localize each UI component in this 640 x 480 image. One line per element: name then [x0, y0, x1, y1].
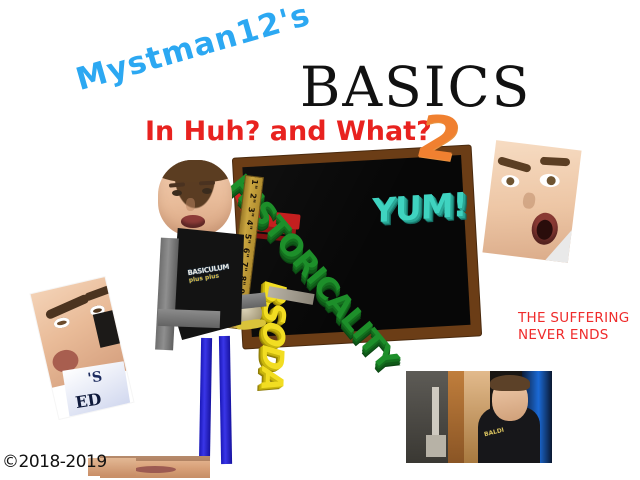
- photo-bottom-beam: [448, 371, 464, 463]
- title-main: BASICS: [300, 55, 531, 119]
- photo-strip-lips: [134, 466, 176, 473]
- photo-right-surprised-face: [482, 140, 581, 263]
- photo-bottom-pipe: [432, 387, 439, 437]
- character-head-photo: [158, 160, 232, 236]
- character-hair: [158, 160, 232, 182]
- character-eye-right: [202, 188, 212, 194]
- photo-bottom-box: [426, 435, 446, 457]
- main-character: BASICULUM plus plus: [150, 160, 270, 480]
- character-mouth: [181, 215, 205, 228]
- photo-left-card-text-bottom: ED: [74, 389, 103, 412]
- suffering-line-1: THE SUFFERING: [518, 310, 630, 327]
- word-art-yum: YUM!: [372, 185, 467, 231]
- photo-left-card-text-top: 'S: [87, 369, 104, 387]
- copyright-notice: ©2018-2019: [2, 452, 107, 472]
- character-leg-left: [199, 338, 212, 466]
- character-leg-right: [219, 336, 232, 464]
- character-eye-left: [172, 190, 182, 196]
- character-eyebrow-right: [199, 181, 215, 186]
- photo-left-card: 'S ED: [62, 361, 130, 416]
- suffering-line-2: NEVER ENDS: [518, 327, 630, 344]
- character-nose: [186, 198, 195, 211]
- photo-right-eyebrow-right: [540, 157, 570, 167]
- photo-left-face: 'S ED: [31, 277, 134, 419]
- title-subtitle: In Huh? and What?: [145, 116, 432, 147]
- photo-bottom-doorway: BALDI: [405, 370, 553, 464]
- poster-canvas: HISTORICALITY YUM! BSODA 1" 2" 3" 4" 5" …: [0, 0, 640, 480]
- suffering-caption: THE SUFFERING NEVER ENDS: [518, 310, 630, 344]
- character-arm-left: [155, 238, 179, 351]
- photo-bottom-person-hair: [490, 375, 530, 391]
- character-forearm: [158, 309, 221, 328]
- title-author: Mystman12's: [72, 0, 314, 98]
- character-eyebrow-left: [169, 182, 185, 187]
